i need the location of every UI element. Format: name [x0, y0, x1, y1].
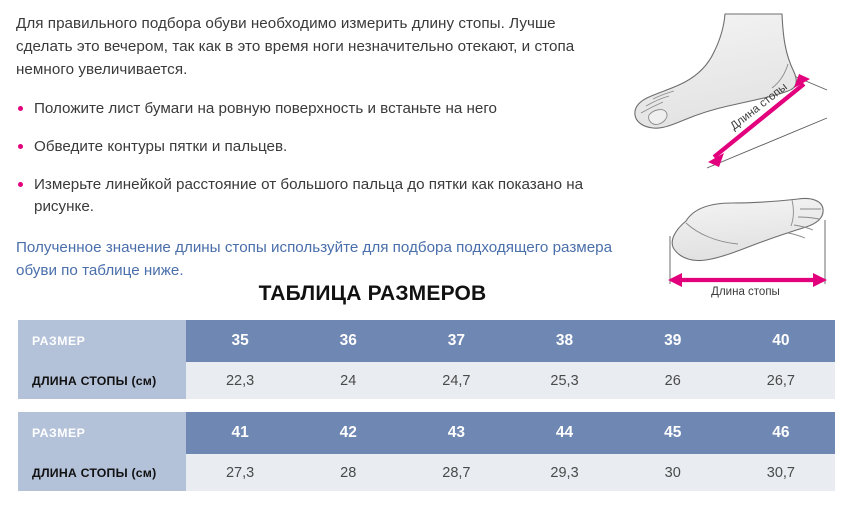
table-header-size: 37: [402, 320, 510, 362]
table-row: РАЗМЕР 35 36 37 38 39 40: [18, 320, 835, 362]
table-cell-length: 30,7: [727, 454, 835, 491]
table-header-size: 43: [402, 412, 510, 454]
table-header-size-label: РАЗМЕР: [18, 320, 186, 362]
size-table-1: РАЗМЕР 35 36 37 38 39 40 ДЛИНА СТОПЫ (см…: [18, 320, 835, 399]
table-header-size: 35: [186, 320, 294, 362]
intro-paragraph: Для правильного подбора обуви необходимо…: [16, 12, 616, 81]
table-cell-length: 30: [619, 454, 727, 491]
table-row-label-length: ДЛИНА СТОПЫ (см): [18, 454, 186, 491]
table-cell-length: 22,3: [186, 362, 294, 399]
bullet-dot-icon: [18, 106, 23, 111]
table-cell-length: 26: [619, 362, 727, 399]
note-paragraph: Полученное значение длины стопы использу…: [16, 236, 616, 282]
table-row: РАЗМЕР 41 42 43 44 45 46: [18, 412, 835, 454]
table-cell-length: 27,3: [186, 454, 294, 491]
size-table-2: РАЗМЕР 41 42 43 44 45 46 ДЛИНА СТОПЫ (см…: [18, 412, 835, 491]
step-text: Обведите контуры пятки и пальцев.: [34, 138, 287, 155]
table-header-size: 40: [727, 320, 835, 362]
table-header-size: 39: [619, 320, 727, 362]
foot-side-illustration: [622, 2, 851, 178]
table-header-size: 44: [510, 412, 618, 454]
list-item: Измерьте линейкой расстояние от большого…: [16, 174, 616, 218]
list-item: Положите лист бумаги на ровную поверхнос…: [16, 98, 616, 120]
table-cell-length: 24: [294, 362, 402, 399]
table-row: ДЛИНА СТОПЫ (см) 27,3 28 28,7 29,3 30 30…: [18, 454, 835, 491]
table-header-size: 45: [619, 412, 727, 454]
table-header-size: 38: [510, 320, 618, 362]
page-title: ТАБЛИЦА РАЗМЕРОВ: [0, 282, 745, 306]
table-cell-length: 28,7: [402, 454, 510, 491]
bullet-dot-icon: [18, 144, 23, 149]
sole-shape: [672, 198, 823, 260]
instructions-block: Для правильного подбора обуви необходимо…: [16, 12, 616, 282]
list-item: Обведите контуры пятки и пальцев.: [16, 136, 616, 158]
table-cell-length: 25,3: [510, 362, 618, 399]
table-header-size: 41: [186, 412, 294, 454]
table-cell-length: 24,7: [402, 362, 510, 399]
table-header-size: 36: [294, 320, 402, 362]
table-cell-length: 29,3: [510, 454, 618, 491]
table-header-size: 46: [727, 412, 835, 454]
step-text: Положите лист бумаги на ровную поверхнос…: [34, 100, 497, 117]
bullet-dot-icon: [18, 182, 23, 187]
table-row: ДЛИНА СТОПЫ (см) 22,3 24 24,7 25,3 26 26…: [18, 362, 835, 399]
table-header-size-label: РАЗМЕР: [18, 412, 186, 454]
table-cell-length: 28: [294, 454, 402, 491]
table-header-size: 42: [294, 412, 402, 454]
steps-list: Положите лист бумаги на ровную поверхнос…: [16, 98, 616, 218]
table-cell-length: 26,7: [727, 362, 835, 399]
table-row-label-length: ДЛИНА СТОПЫ (см): [18, 362, 186, 399]
step-text: Измерьте линейкой расстояние от большого…: [34, 176, 583, 215]
